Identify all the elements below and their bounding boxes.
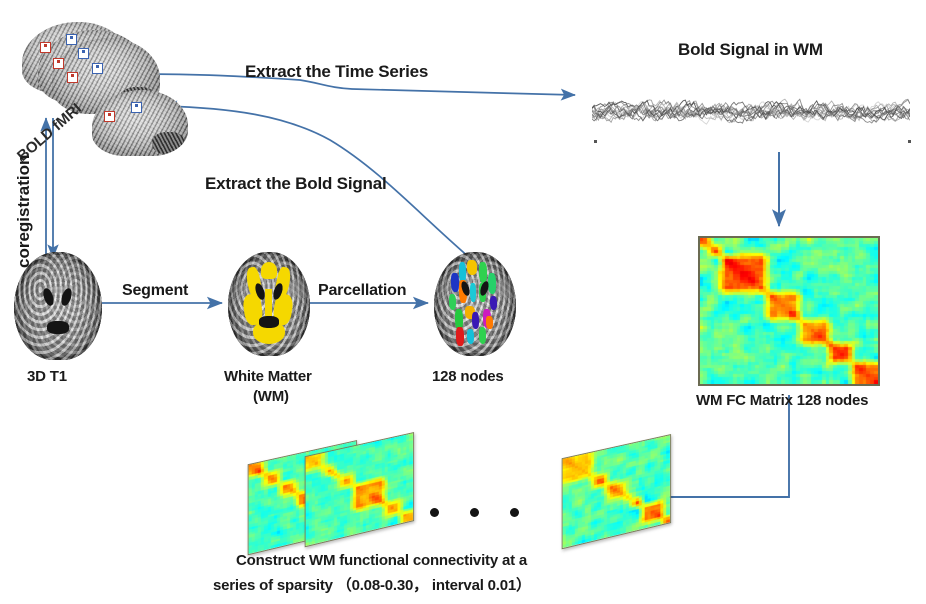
node-overlay [434, 252, 516, 356]
seed-marker-blue [131, 102, 142, 113]
white-matter-label: White Matter [224, 368, 312, 385]
caption-line-1: Construct WM functional connectivity at … [236, 552, 527, 569]
white-matter-overlay [228, 252, 310, 356]
fc-matrix-canvas [700, 238, 878, 384]
sagittal-slice-single [92, 90, 188, 156]
t1-label: 3D T1 [27, 368, 67, 385]
ellipsis-dot [510, 508, 519, 517]
t1-axial-brain [14, 252, 102, 360]
parcellation-label: Parcellation [318, 282, 406, 300]
ellipsis-dot [430, 508, 439, 517]
axis-tick-right [908, 140, 911, 143]
ellipsis-dot [470, 508, 479, 517]
posterior-structure [47, 321, 68, 334]
white-matter-axial-brain [228, 252, 310, 356]
sparsity-matrix-canvas [563, 435, 670, 548]
seed-marker-red [53, 58, 64, 69]
cerebellum [152, 132, 185, 154]
seed-marker-red [40, 42, 51, 53]
nodes-128-label: 128 nodes [432, 368, 504, 385]
axis-tick-left [594, 140, 597, 143]
extract-bold-signal-label: Extract the Bold Signal [205, 174, 387, 194]
segment-label: Segment [122, 282, 188, 300]
seed-marker-red [104, 111, 115, 122]
sparsity-matrix-n [562, 434, 671, 549]
extract-time-series-label: Extract the Time Series [245, 62, 428, 82]
white-matter-label-2: (WM) [253, 388, 289, 405]
wm-fc-matrix [698, 236, 880, 386]
bold-signal-in-wm-label: Bold Signal in WM [678, 40, 823, 60]
timeseries-svg [592, 76, 910, 148]
seed-marker-blue [92, 63, 103, 74]
posterior-structure [259, 316, 279, 327]
figure-canvas: BOLD fMRI coregistration Extract the Tim… [0, 0, 926, 604]
wm-fc-matrix-label: WM FC Matrix 128 nodes [696, 392, 868, 409]
parcellation-axial-brain [434, 252, 516, 356]
coregistration-label: coregistration [14, 155, 34, 268]
caption-line-2: series of sparsity （0.08-0.30， interval … [213, 574, 531, 595]
seed-marker-red [67, 72, 78, 83]
seed-marker-blue [66, 34, 77, 45]
seed-marker-blue [78, 48, 89, 59]
bold-timeseries-plot [592, 76, 910, 148]
brain-texture [14, 252, 102, 360]
